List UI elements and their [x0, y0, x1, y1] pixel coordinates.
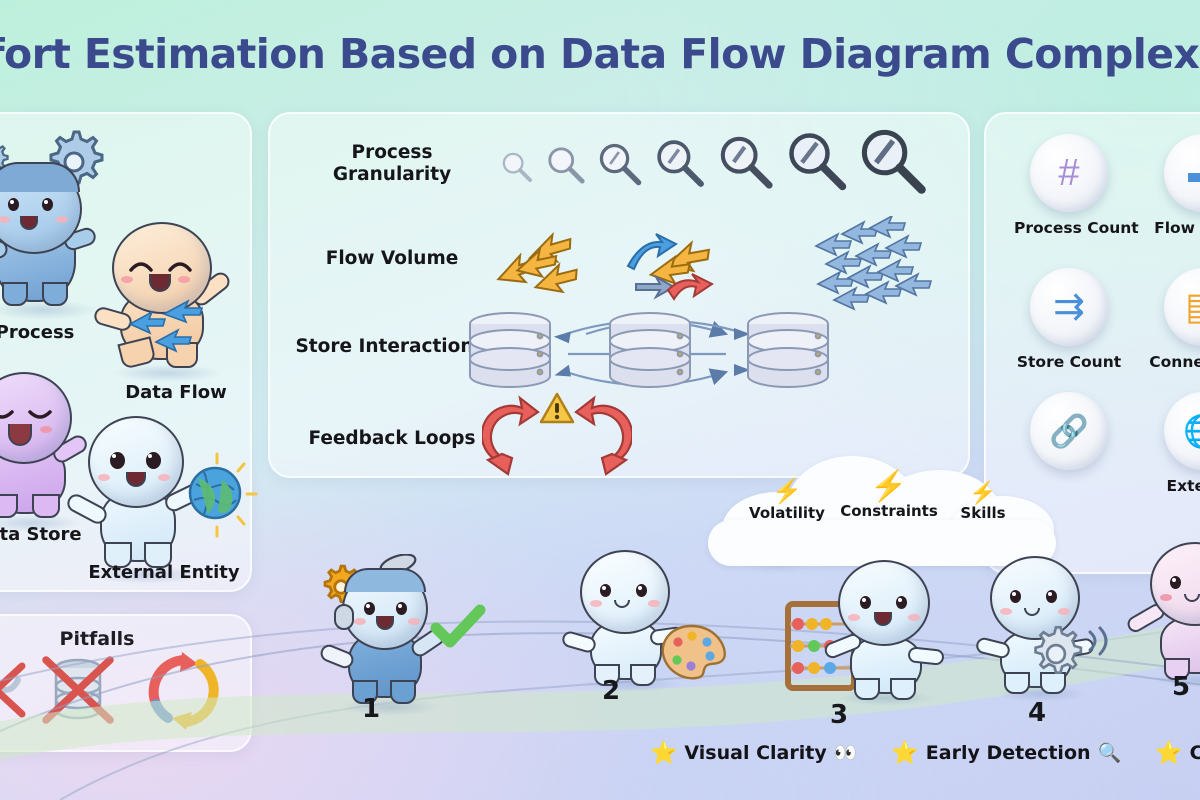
- metric-connections[interactable]: ▤ Connections: [1148, 268, 1200, 371]
- database-links: [446, 300, 866, 400]
- workflow-step-1-character: [322, 556, 472, 716]
- influence-factors-cloud: ⚡ Volatility ⚡ Constraints ⚡ Skills: [700, 452, 1066, 568]
- arrows-icon: ⇉: [1030, 268, 1108, 346]
- element-label-data-flow: Data Flow: [96, 382, 256, 403]
- factor-volatility: ⚡ Volatility: [738, 480, 836, 522]
- star-icon: ⭐: [650, 742, 677, 764]
- element-label-process: Process: [0, 322, 110, 343]
- workflow-step-4-character: [978, 556, 1138, 706]
- data-flow-character: [96, 218, 256, 378]
- lightning-bolt-icon: ⚡: [834, 472, 944, 502]
- workflow-step-5-character: [1136, 540, 1200, 690]
- eyes-icon: 👀: [834, 744, 858, 763]
- arrow-cluster-high: [812, 216, 942, 312]
- infographic-canvas: Effort Estimation Based on Data Flow Dia…: [0, 0, 1200, 800]
- lightning-bolt-icon: ⚡: [738, 480, 836, 504]
- metric-process-count[interactable]: # Process Count: [1014, 134, 1124, 237]
- gear-icon: [1024, 622, 1088, 686]
- star-icon: ⭐: [1155, 742, 1182, 764]
- globe-icon-metric: 🌐: [1164, 392, 1200, 470]
- badge-early-detection[interactable]: ⭐ Early Detection 🔍: [891, 742, 1121, 764]
- palette-icon: [658, 622, 730, 684]
- dimension-label-process-granularity: Process Granularity: [292, 142, 492, 186]
- step-number-1: 1: [362, 694, 380, 724]
- step-number-2: 2: [602, 676, 620, 706]
- flow-line-icon: ▬: [1164, 134, 1200, 212]
- list-icon: ▤: [1164, 268, 1200, 346]
- badge-visual-clarity[interactable]: ⭐ Visual Clarity 👀: [650, 742, 857, 764]
- step-number-3: 3: [830, 700, 848, 730]
- dimension-label-feedback-loops: Feedback Loops: [282, 428, 502, 450]
- hash-icon: #: [1030, 134, 1108, 212]
- arrow-cluster-low: [490, 228, 600, 298]
- dimension-label-flow-volume: Flow Volume: [292, 248, 492, 270]
- step-number-4: 4: [1028, 698, 1046, 728]
- magnifier-icon: 🔍: [1098, 744, 1122, 763]
- workflow-step-3-character: [790, 560, 970, 710]
- step-number-5: 5: [1172, 672, 1190, 702]
- metric-store-count[interactable]: ⇉ Store Count: [1014, 268, 1124, 371]
- star-icon: ⭐: [891, 742, 918, 764]
- lightning-bolt-icon: ⚡: [940, 482, 1026, 504]
- check-icon: [430, 604, 486, 650]
- page-title: Effort Estimation Based on Data Flow Dia…: [0, 30, 1200, 78]
- metric-external[interactable]: 🌐 External: [1148, 392, 1200, 495]
- metric-flow-count[interactable]: ▬ Flow Count: [1148, 134, 1200, 237]
- benefit-badges: ⭐ Visual Clarity 👀 ⭐ Early Detection 🔍 ⭐…: [650, 742, 1200, 764]
- badge-consistency[interactable]: ⭐ Consistency: [1155, 742, 1200, 764]
- factor-skills: ⚡ Skills: [940, 482, 1026, 522]
- loop-arrows-warning: [482, 390, 632, 476]
- arrow-cluster-medium: [620, 222, 750, 302]
- factor-constraints: ⚡ Constraints: [834, 472, 944, 520]
- workflow-step-2-character: [566, 548, 726, 698]
